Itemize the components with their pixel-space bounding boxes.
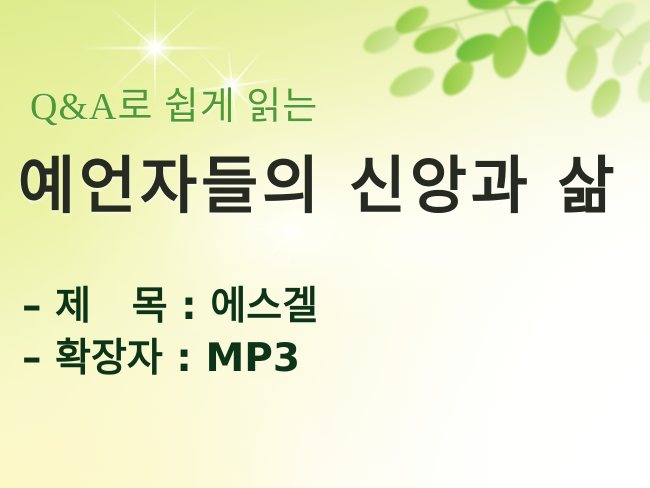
background-base-gradient: [0, 0, 650, 488]
banner-kicker-text: Q&A로 쉽게 읽는: [30, 88, 318, 126]
banner-meta-list: – 제 목 : 에스겔 – 확장자 : MP3: [22, 281, 318, 385]
background-lower-glow: [0, 0, 650, 488]
sparkle-ray: [238, 225, 346, 238]
meta-row-title: – 제 목 : 에스겔: [22, 281, 318, 333]
promo-banner: Q&A로 쉽게 읽는 예언자들의 신앙과 삶 – 제 목 : 에스겔 – 확장자…: [0, 0, 650, 488]
banner-title: 예언자들의 신앙과 삶: [18, 155, 619, 217]
leaf-branch-icon: [360, 0, 650, 132]
meta-row-extension: – 확장자 : MP3: [22, 333, 318, 385]
background-right-fade: [0, 0, 650, 488]
sparkle-ray: [105, 3, 204, 93]
background-center-glow: [0, 0, 650, 488]
background-bottom-left-glow: [0, 0, 650, 488]
background-vertical-wash: [0, 0, 650, 488]
sparkle-core: [138, 31, 172, 65]
sparkle-ray: [80, 47, 230, 50]
sparkle-ray: [110, 4, 201, 92]
